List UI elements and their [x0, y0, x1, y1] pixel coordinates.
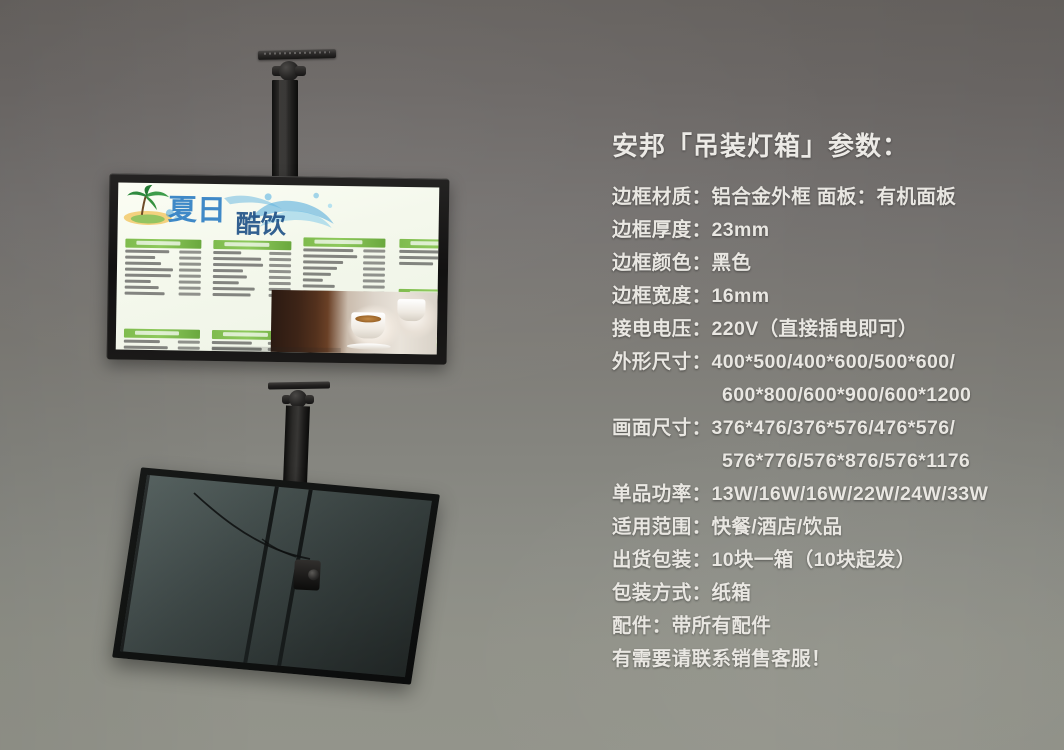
menu-section-heading — [399, 239, 439, 249]
product-promo-image: 夏日 酷饮 — [0, 0, 1064, 750]
spec-line-outer-size: 外形尺寸：400*500/400*600/500*600/ — [612, 346, 1032, 379]
spec-line-package-type: 包装方式：纸箱 — [612, 577, 1032, 610]
spec-line-application: 适用范围：快餐/酒店/饮品 — [612, 511, 1032, 544]
drop-pole-upper-highlight — [279, 80, 289, 188]
saucer-icon — [347, 343, 391, 350]
menu-title-art: 夏日 酷饮 — [164, 189, 333, 238]
rear-panel-sheen — [120, 475, 432, 677]
spec-line-power: 单品功率：13W/16W/16W/22W/24W/33W — [612, 478, 1032, 511]
menu-section — [399, 239, 439, 267]
menu-lightbox-front: 夏日 酷饮 — [107, 173, 450, 364]
spec-line-frame-thickness: 边框厚度：23mm — [612, 214, 1032, 247]
spec-line-frame-color: 边框颜色：黑色 — [612, 247, 1032, 280]
menu-board-face: 夏日 酷饮 — [116, 182, 440, 354]
pivot-knob-right-icon — [295, 66, 306, 76]
menu-section — [303, 237, 386, 295]
spec-line-frame-width: 边框宽度：16mm — [612, 280, 1032, 313]
spec-title: 安邦「吊装灯箱」参数： — [612, 126, 1032, 163]
menu-section-heading — [125, 239, 201, 249]
spec-line-frame-material: 边框材质：铝合金外框 面板：有机面板 — [612, 181, 1032, 214]
svg-text:夏日: 夏日 — [168, 192, 227, 227]
lightbox-rear-panel — [112, 467, 440, 684]
menu-section-heading — [124, 329, 200, 339]
spec-line-graphic-size: 画面尺寸：376*476/376*576/476*576/ — [612, 412, 1032, 445]
spec-line-voltage: 接电电压：220V（直接插电即可） — [612, 313, 1032, 346]
coffee-cup-icon — [351, 312, 385, 339]
menu-section-heading — [213, 240, 291, 250]
spec-line-outer-size-cont: 600*800/600*900/600*1200 — [612, 379, 1032, 412]
menu-section-heading — [303, 237, 385, 247]
menu-footer-strip — [212, 346, 340, 353]
rear-panel-face — [120, 475, 432, 677]
spec-panel: 安邦「吊装灯箱」参数： 边框材质：铝合金外框 面板：有机面板 边框厚度：23mm… — [612, 126, 1032, 676]
rear-mount-bracket — [291, 559, 323, 595]
spec-line-shipping-pack: 出货包装：10块一箱（10块起发） — [612, 544, 1032, 577]
menu-section — [125, 239, 202, 297]
menu-section — [123, 329, 200, 355]
coffee-beans-icon — [271, 290, 348, 353]
coffee-photo — [271, 290, 438, 355]
coffee-cup-secondary-icon — [397, 299, 425, 321]
spec-line-accessories: 配件：带所有配件 — [612, 610, 1032, 643]
pivot-knob-right-icon — [305, 395, 314, 404]
spec-line-graphic-size-cont: 576*776/576*876/576*1176 — [612, 445, 1032, 478]
spec-line-contact-cta: 有需要请联系销售客服！ — [612, 643, 1032, 676]
